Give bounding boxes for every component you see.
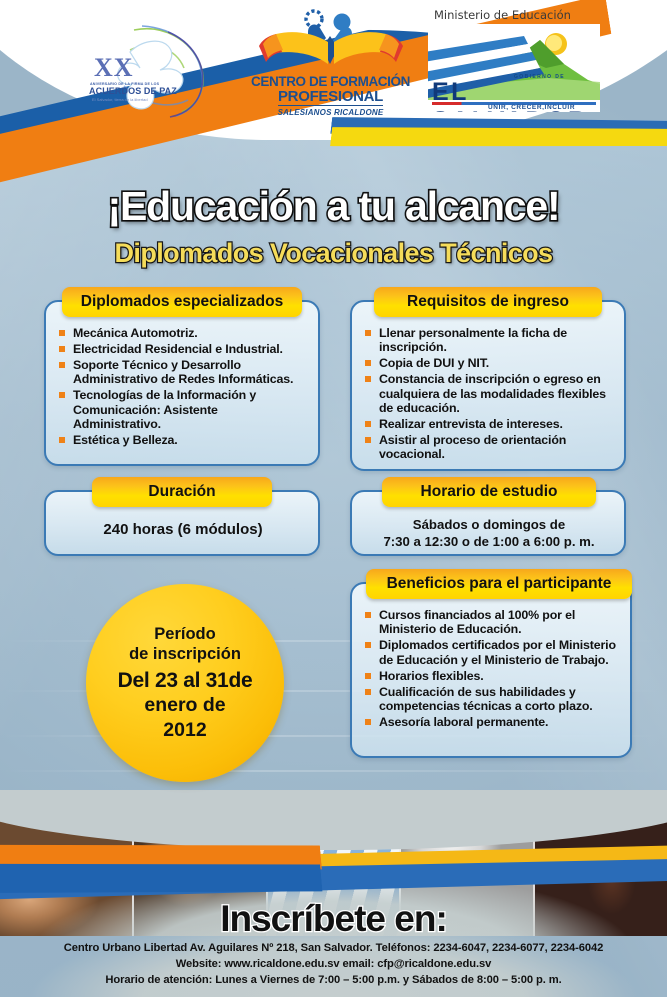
footer-address: Centro Urbano Libertad Av. Aguilares Nº … [0,940,667,956]
list-item: Constancia de inscripción o egreso en cu… [364,372,614,415]
panel-horario-estudio: Horario de estudio Sábados o domingos de… [350,490,626,556]
footer: Inscríbete en: Centro Urbano Libertad Av… [0,890,667,997]
list-item: Cursos financiados al 100% por el Minist… [364,608,620,637]
dove-icon: XX ANIVERSARIO DE LA FIRMA DE LOS ACUERD… [72,22,242,122]
list-item: Copia de DUI y NIT. [364,356,614,370]
el-salvador-motto: UNIR, CRECER,INCLUIR [488,104,575,111]
ministerio-educacion-logo: Ministerio de Educación [428,8,608,126]
list-item: Horarios flexibles. [364,669,620,683]
panel-heading-beneficios: Beneficios para el participante [366,569,632,599]
paz-roman-numeral: XX [94,53,134,82]
list-item: Diplomados certificados por el Ministeri… [364,638,620,667]
periodo-line4: enero de [144,693,225,718]
open-book-people-icon [256,8,406,74]
acuerdos-de-paz-logo: XX ANIVERSARIO DE LA FIRMA DE LOS ACUERD… [72,22,242,122]
panel-beneficios: Beneficios para el participante Cursos f… [350,582,632,758]
periodo-line2: de inscripción [129,644,241,664]
list-item: Tecnologías de la Información y Comunica… [58,388,308,431]
list-item: Cualificación de sus habilidades y compe… [364,685,620,714]
list-item: Mecánica Automotriz. [58,326,308,340]
list-item: Soporte Técnico y Desarrollo Administrat… [58,358,308,387]
paz-line2: ACUERDOS DE PAZ [89,86,177,96]
periodo-line1: Período [154,624,215,644]
paz-line3: El Salvador, tierra de la libertad [92,97,148,102]
panel-heading-diplomados: Diplomados especializados [62,287,302,317]
beneficios-list: Cursos financiados al 100% por el Minist… [364,608,620,729]
centro-formacion-profesional-logo: CENTRO DE FORMACIÓN PROFESIONAL SALESIAN… [248,8,413,126]
cfp-title: CENTRO DE FORMACIÓN [248,75,413,88]
panel-heading-duracion: Duración [92,477,272,507]
poster-root: XX ANIVERSARIO DE LA FIRMA DE LOS ACUERD… [0,0,667,997]
main-title: ¡Educación a tu alcance! [0,183,667,230]
panel-diplomados-especializados: Diplomados especializados Mecánica Autom… [44,300,320,466]
periodo-line5: 2012 [163,718,206,743]
panel-heading-requisitos: Requisitos de ingreso [374,287,602,317]
panel-heading-horario: Horario de estudio [382,477,596,507]
sub-title: Diplomados Vocacionales Técnicos [0,238,667,269]
duracion-value: 240 horas (6 módulos) [58,520,308,539]
footer-hours: Horario de atención: Lunes a Viernes de … [0,972,667,988]
list-item: Llenar personalmente la ficha de inscrip… [364,326,614,355]
periodo-inscripcion-circle: Período de inscripción Del 23 al 31de en… [86,584,284,782]
list-item: Asesoría laboral permanente. [364,715,620,729]
panel-requisitos-ingreso: Requisitos de ingreso Llenar personalmen… [350,300,626,471]
el-salvador-emblem: GOBIERNO DE EL SALVADOR UNIR, CRECER,INC… [428,24,600,112]
list-item: Asistir al proceso de orientación vocaci… [364,433,614,462]
cfp-subtitle: PROFESIONAL [278,89,383,106]
list-item: Estética y Belleza. [58,433,308,447]
cfp-tagline: SALESIANOS RICALDONE [248,108,413,117]
horario-line2: 7:30 a 12:30 o de 1:00 a 6:00 p. m. [364,533,614,550]
cta-inscribete: Inscríbete en: [0,890,667,940]
panel-duracion: Duración 240 horas (6 módulos) [44,490,320,556]
logo-row: XX ANIVERSARIO DE LA FIRMA DE LOS ACUERD… [0,0,667,135]
diplomados-list: Mecánica Automotriz. Electricidad Reside… [58,326,308,447]
horario-line1: Sábados o domingos de [364,516,614,533]
list-item: Realizar entrevista de intereses. [364,417,614,431]
requisitos-list: Llenar personalmente la ficha de inscrip… [364,326,614,462]
list-item: Electricidad Residencial e Industrial. [58,342,308,356]
periodo-line3: Del 23 al 31de [118,668,253,693]
footer-web: Website: www.ricaldone.edu.sv email: cfp… [0,956,667,972]
ministerio-label: Ministerio de Educación [434,8,608,22]
